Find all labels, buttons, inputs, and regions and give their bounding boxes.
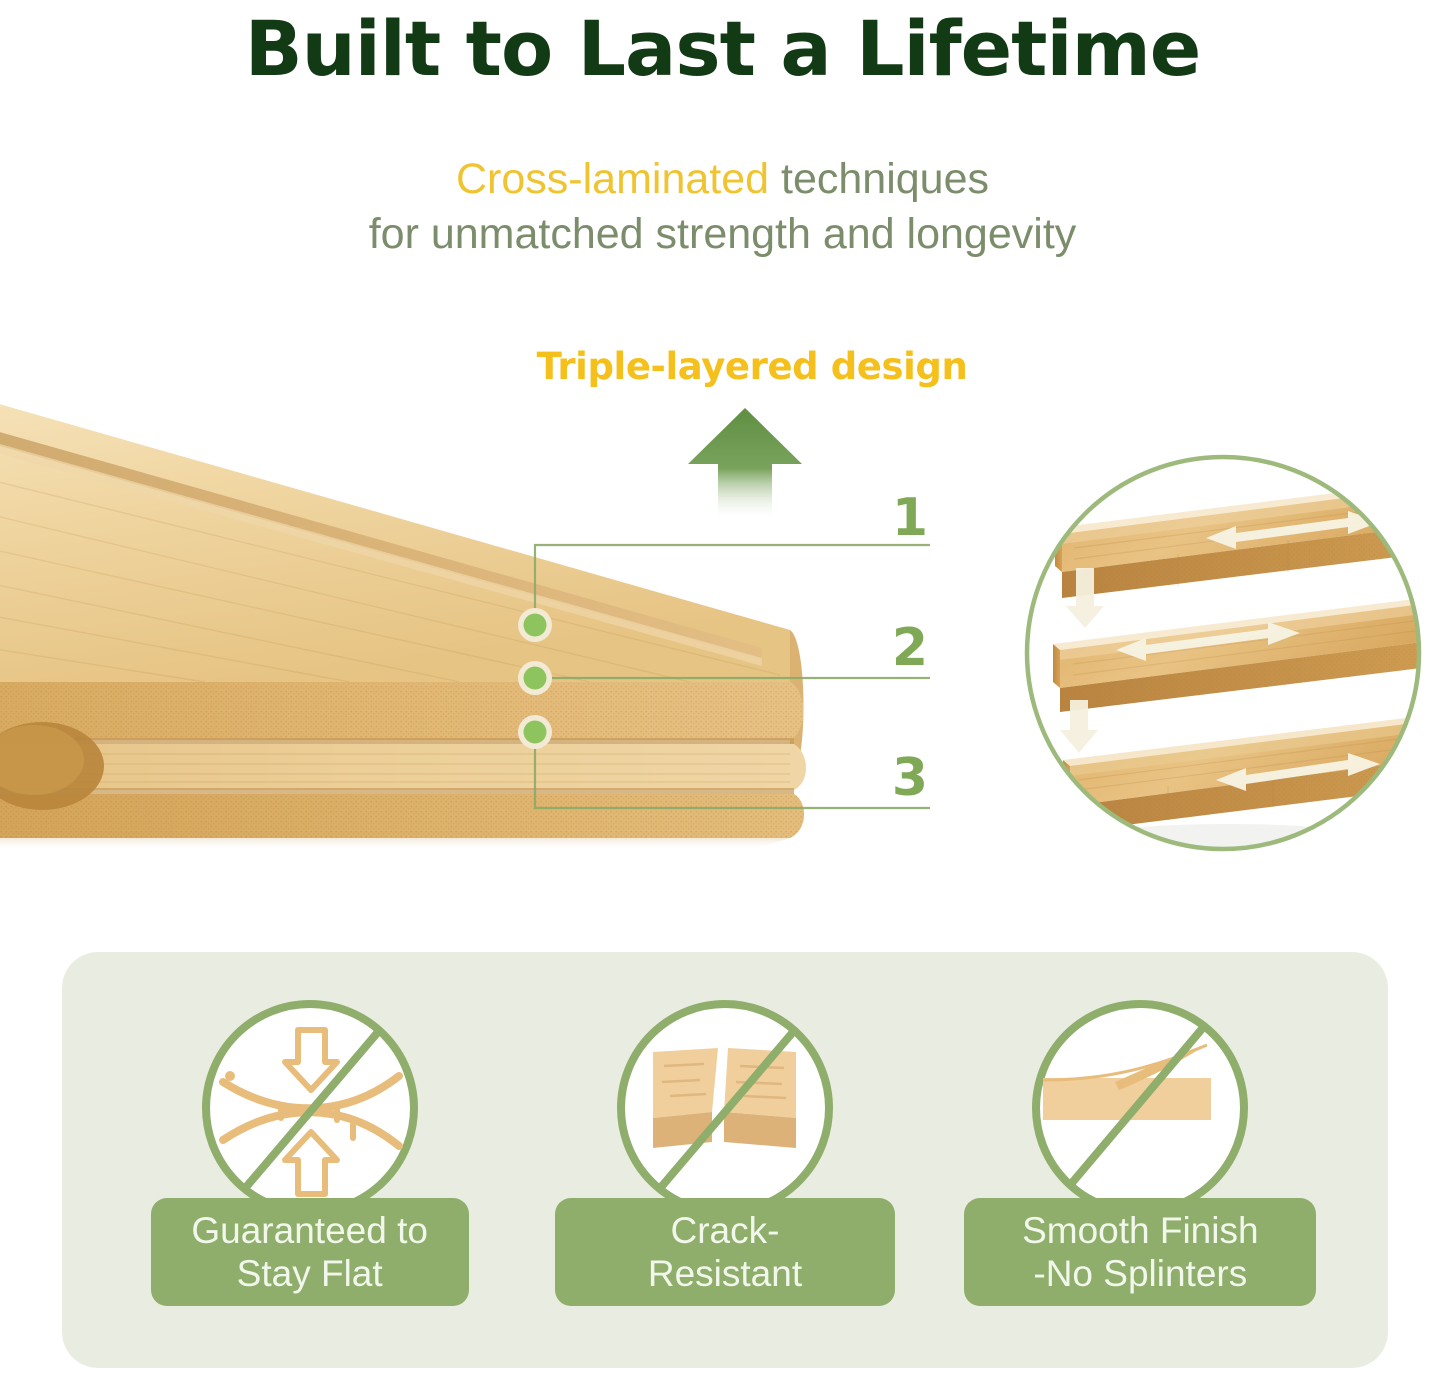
layer-dot-group <box>518 608 552 749</box>
callout-number-1: 1 <box>868 488 928 548</box>
page-subtitle: Cross-laminated techniques for unmatched… <box>0 152 1445 261</box>
triple-layered-design-label: Triple-layered design <box>497 345 1007 388</box>
feature-badge-smooth-finish: Smooth Finish -No Splinters <box>955 990 1325 1330</box>
feature-badge-stay-flat: Guaranteed to Stay Flat <box>125 990 495 1330</box>
callout-number-2: 2 <box>868 618 928 678</box>
infographic-page: Built to Last a Lifetime Cross-laminated… <box>0 0 1445 1380</box>
feature-label: Smooth Finish -No Splinters <box>964 1198 1316 1306</box>
subtitle-rest: techniques <box>769 155 989 203</box>
feature-badge-crack-resistant: Crack- Resistant <box>540 990 910 1330</box>
callout-number-3: 3 <box>868 748 928 808</box>
page-title: Built to Last a Lifetime <box>0 8 1445 90</box>
subtitle-line-2: for unmatched strength and longevity <box>0 207 1445 262</box>
features-panel: Guaranteed to Stay Flat <box>62 952 1388 1368</box>
feature-label: Crack- Resistant <box>555 1198 895 1306</box>
feature-label: Guaranteed to Stay Flat <box>151 1198 469 1306</box>
subtitle-highlight: Cross-laminated <box>456 155 769 203</box>
subtitle-line-1: Cross-laminated techniques <box>0 152 1445 207</box>
cross-lamination-inset <box>1018 428 1443 883</box>
